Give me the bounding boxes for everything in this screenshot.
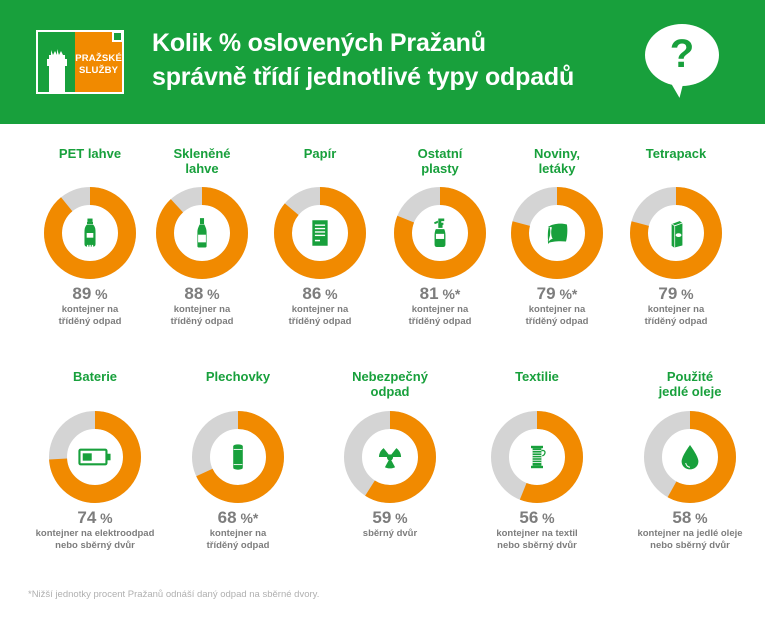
logo-corner-square-icon bbox=[112, 31, 123, 42]
disposal-description: kontejner na elektroodpad nebo sběrný dv… bbox=[20, 528, 170, 552]
disposal-description: kontejner na tříděný odpad bbox=[620, 304, 732, 328]
disposal-description: kontejner na textil nebo sběrný dvůr bbox=[462, 528, 612, 552]
percent-number: 89 bbox=[72, 284, 91, 303]
donut-gauge bbox=[644, 411, 736, 503]
percent-unit: %* bbox=[237, 510, 259, 526]
infographic-page: PRAŽSKÉ SLUŽBY Kolik % oslovených Pražan… bbox=[0, 0, 765, 624]
percent-value: 81 %* bbox=[384, 284, 496, 304]
chart-title: Nebezpečný odpad bbox=[315, 369, 465, 399]
donut-gauge bbox=[192, 411, 284, 503]
percent-number: 81 bbox=[420, 284, 439, 303]
prague-city-silhouette-icon bbox=[44, 46, 70, 92]
chart-cell: Tetrapack79 %kontejner na tříděný odpad bbox=[620, 146, 732, 328]
percent-value: 74 % bbox=[20, 508, 170, 528]
chart-cell: Skleněné lahve88 %kontejner na tříděný o… bbox=[146, 146, 258, 328]
percent-value: 79 %* bbox=[501, 284, 613, 304]
chart-title: Použité jedlé oleje bbox=[615, 369, 765, 399]
chart-cell: Plechovky68 %*kontejner na tříděný odpad bbox=[163, 369, 313, 552]
percent-value: 59 % bbox=[315, 508, 465, 528]
logo-wordmark-panel: PRAŽSKÉ SLUŽBY bbox=[75, 32, 122, 92]
chart-title: Ostatní plasty bbox=[384, 146, 496, 176]
percent-value: 79 % bbox=[620, 284, 732, 304]
logo-line-2: SLUŽBY bbox=[79, 65, 118, 77]
disposal-description: kontejner na tříděný odpad bbox=[146, 304, 258, 328]
percent-value: 56 % bbox=[462, 508, 612, 528]
percent-number: 56 bbox=[519, 508, 538, 527]
chart-title: Textilie bbox=[462, 369, 612, 384]
question-speech-bubble: ? bbox=[645, 24, 723, 100]
donut-gauge bbox=[156, 187, 248, 279]
donut-gauge bbox=[491, 411, 583, 503]
disposal-description: kontejner na tříděný odpad bbox=[163, 528, 313, 552]
footnote: *Nižší jednotky procent Pražanů odnáší d… bbox=[28, 589, 319, 601]
chart-cell: Použité jedlé oleje58 %kontejner na jedl… bbox=[615, 369, 765, 552]
chart-title: Papír bbox=[264, 146, 376, 161]
disposal-description: sběrný dvůr bbox=[315, 528, 465, 540]
charts-area: PET lahve89 %kontejner na tříděný odpadS… bbox=[0, 124, 765, 624]
title-line-2: správně třídí jednotlivé typy odpadů bbox=[152, 60, 622, 94]
percent-unit: %* bbox=[439, 286, 461, 302]
donut-gauge bbox=[630, 187, 722, 279]
percent-number: 88 bbox=[184, 284, 203, 303]
chart-title: PET lahve bbox=[34, 146, 146, 161]
chart-cell: Noviny, letáky79 %*kontejner na tříděný … bbox=[501, 146, 613, 328]
chart-title: Noviny, letáky bbox=[501, 146, 613, 176]
chart-cell: PET lahve89 %kontejner na tříděný odpad bbox=[34, 146, 146, 328]
logo-silhouette-panel bbox=[38, 32, 75, 92]
donut-gauge bbox=[394, 187, 486, 279]
percent-number: 59 bbox=[372, 508, 391, 527]
donut-gauge bbox=[511, 187, 603, 279]
percent-number: 79 bbox=[658, 284, 677, 303]
chart-title: Tetrapack bbox=[620, 146, 732, 161]
percent-unit: % bbox=[96, 510, 112, 526]
header-banner: PRAŽSKÉ SLUŽBY Kolik % oslovených Pražan… bbox=[0, 0, 765, 124]
donut-gauge bbox=[44, 187, 136, 279]
question-mark-glyph: ? bbox=[670, 34, 694, 74]
percent-value: 88 % bbox=[146, 284, 258, 304]
donut-gauge bbox=[49, 411, 141, 503]
chart-cell: Textilie56 %kontejner na textil nebo sbě… bbox=[462, 369, 612, 552]
percent-value: 86 % bbox=[264, 284, 376, 304]
chart-title: Skleněné lahve bbox=[146, 146, 258, 176]
percent-number: 68 bbox=[218, 508, 237, 527]
disposal-description: kontejner na jedlé oleje nebo sběrný dvů… bbox=[615, 528, 765, 552]
percent-value: 89 % bbox=[34, 284, 146, 304]
percent-number: 79 bbox=[537, 284, 556, 303]
percent-unit: % bbox=[391, 510, 407, 526]
chart-cell: Papír86 %kontejner na tříděný odpad bbox=[264, 146, 376, 328]
percent-unit: %* bbox=[556, 286, 578, 302]
title-line-1: Kolik % oslovených Pražanů bbox=[152, 26, 622, 60]
percent-number: 74 bbox=[77, 508, 96, 527]
percent-value: 58 % bbox=[615, 508, 765, 528]
percent-unit: % bbox=[538, 510, 554, 526]
percent-unit: % bbox=[91, 286, 107, 302]
percent-value: 68 %* bbox=[163, 508, 313, 528]
disposal-description: kontejner na tříděný odpad bbox=[501, 304, 613, 328]
question-mark-bubble-icon: ? bbox=[645, 24, 719, 86]
disposal-description: kontejner na tříděný odpad bbox=[34, 304, 146, 328]
chart-cell: Ostatní plasty81 %*kontejner na tříděný … bbox=[384, 146, 496, 328]
chart-cell: Nebezpečný odpad59 %sběrný dvůr bbox=[315, 369, 465, 540]
disposal-description: kontejner na tříděný odpad bbox=[264, 304, 376, 328]
percent-unit: % bbox=[203, 286, 219, 302]
chart-cell: Baterie74 %kontejner na elektroodpad neb… bbox=[20, 369, 170, 552]
donut-gauge bbox=[344, 411, 436, 503]
prazske-sluzby-logo: PRAŽSKÉ SLUŽBY bbox=[36, 30, 124, 94]
chart-title: Baterie bbox=[20, 369, 170, 384]
percent-number: 58 bbox=[672, 508, 691, 527]
percent-unit: % bbox=[691, 510, 707, 526]
chart-title: Plechovky bbox=[163, 369, 313, 384]
percent-number: 86 bbox=[302, 284, 321, 303]
donut-gauge bbox=[274, 187, 366, 279]
percent-unit: % bbox=[677, 286, 693, 302]
page-title: Kolik % oslovených Pražanů správně třídí… bbox=[152, 26, 622, 94]
disposal-description: kontejner na tříděný odpad bbox=[384, 304, 496, 328]
percent-unit: % bbox=[321, 286, 337, 302]
logo-line-1: PRAŽSKÉ bbox=[75, 53, 122, 65]
